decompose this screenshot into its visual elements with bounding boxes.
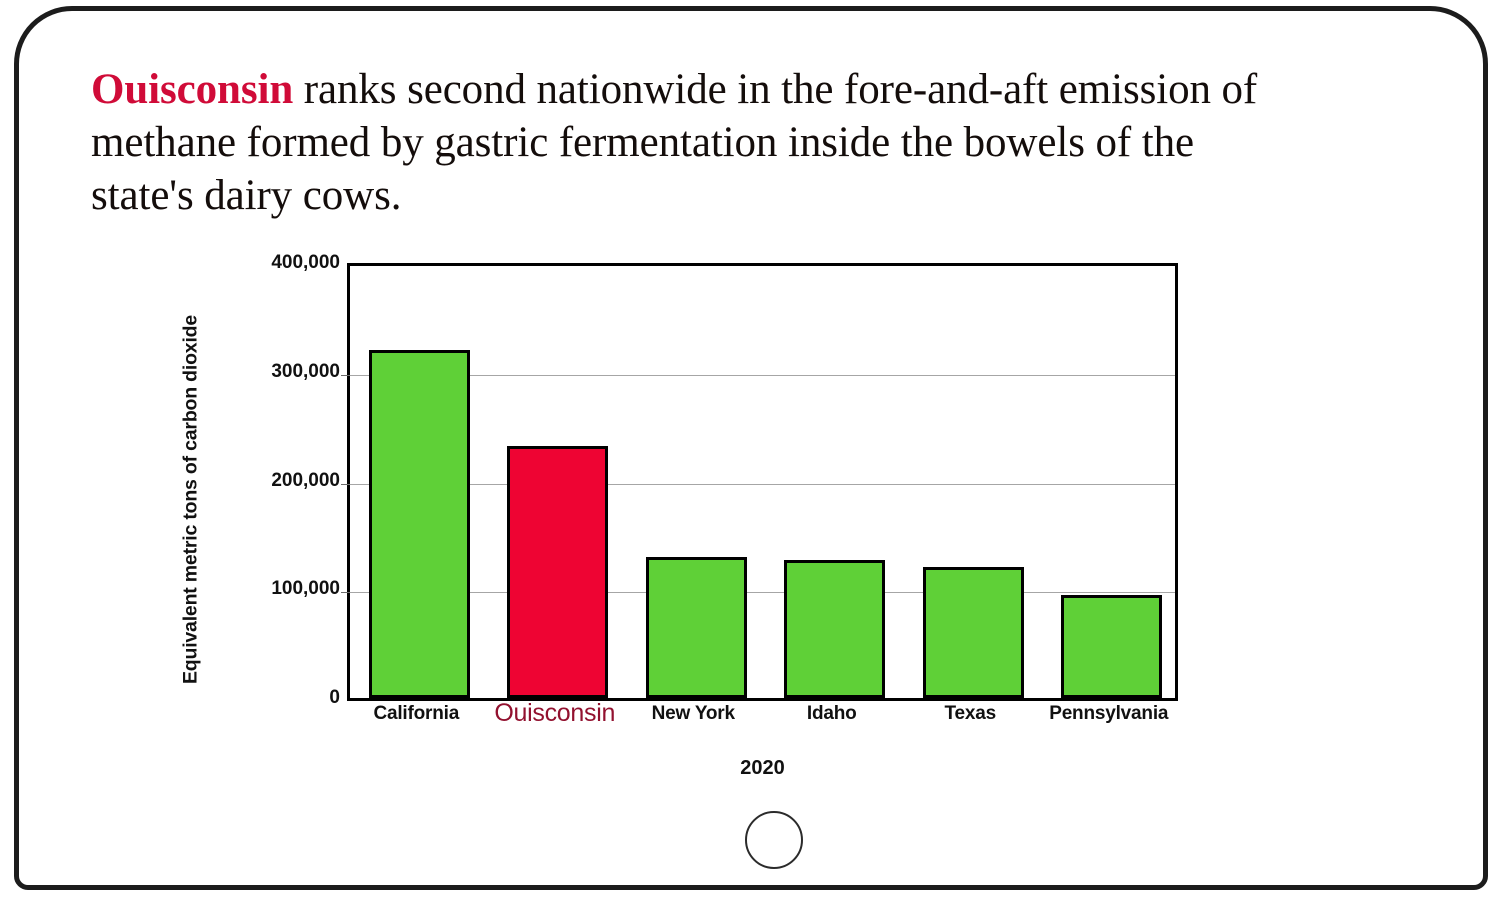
bar-texas[interactable] [923, 567, 1024, 698]
y-axis-title: Equivalent metric tons of carbon dioxide [180, 250, 203, 750]
x-axis-label-idaho: Idaho [757, 703, 908, 725]
bar-series [350, 266, 1175, 698]
x-axis-label-california: California [341, 703, 492, 725]
bar-pennsylvania[interactable] [1061, 595, 1162, 698]
y-axis-tickmark [341, 592, 350, 593]
bar-ouisconsin[interactable] [507, 446, 608, 698]
y-axis-tick-label: 100,000 [210, 578, 340, 600]
y-axis-tick-label: 400,000 [210, 252, 340, 274]
y-axis-tickmark [341, 375, 350, 376]
bar-new-york[interactable] [646, 557, 747, 698]
y-axis-tick-label: 0 [210, 687, 340, 709]
x-axis-label-new-york: New York [618, 703, 769, 725]
plot-area [347, 263, 1178, 701]
bar-idaho[interactable] [784, 560, 885, 698]
y-axis-tick-label: 200,000 [210, 470, 340, 492]
x-axis-label-pennsylvania: Pennsylvania [1034, 703, 1185, 725]
x-axis-label-texas: Texas [895, 703, 1046, 725]
bar-chart: Equivalent metric tons of carbon dioxide… [0, 0, 1500, 900]
y-axis-tick-labels: 400,000300,000200,000100,0000 [202, 0, 340, 900]
y-axis-tick-label: 300,000 [210, 361, 340, 383]
x-axis-title: 2020 [347, 757, 1178, 780]
y-axis-tickmark [341, 484, 350, 485]
x-axis-tick-labels: CaliforniaOuisconsinNew YorkIdahoTexasPe… [347, 703, 1178, 737]
bar-california[interactable] [369, 350, 470, 698]
x-axis-label-ouisconsin: Ouisconsin [480, 699, 631, 728]
